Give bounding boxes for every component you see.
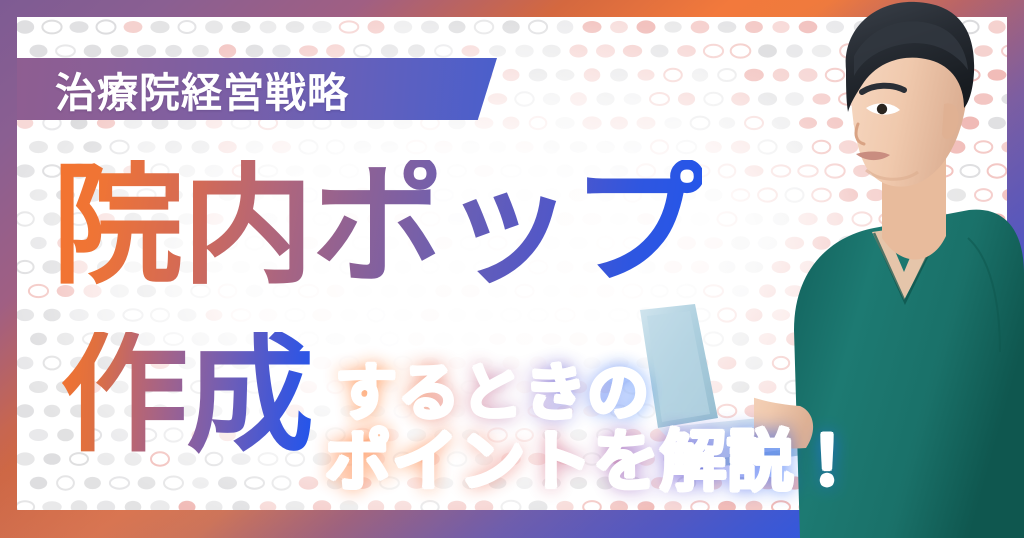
headline-line-1: 院内ポップ xyxy=(52,160,702,292)
eyebrow-label: 治療院経営戦略 xyxy=(55,59,349,119)
subhead-line-2: ポイントを解説！ xyxy=(325,408,861,504)
headline-line-2: 作成 xyxy=(60,332,312,460)
banner-root: 治療院経営戦略 院内ポップ 作成 xyxy=(0,0,1024,538)
eyebrow-ribbon: 治療院経営戦略 xyxy=(17,58,497,120)
